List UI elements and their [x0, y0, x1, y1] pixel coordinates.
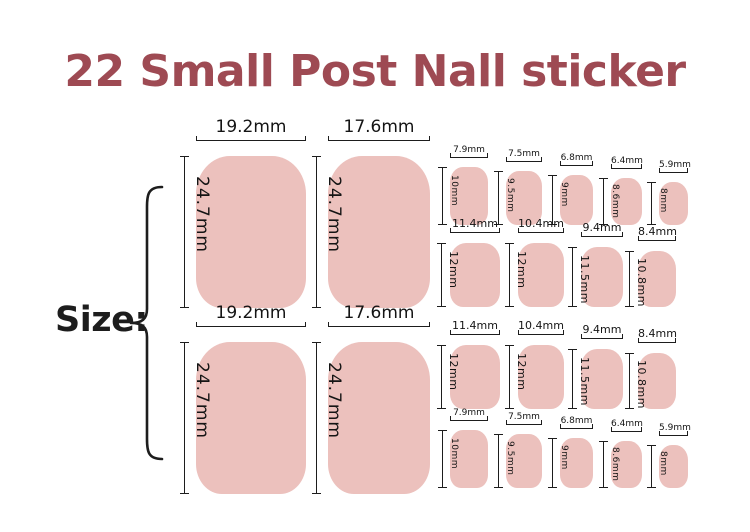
- height-dimension-line: [184, 342, 185, 494]
- height-dimension-line: [498, 434, 499, 488]
- nail-width-label: 19.2mm: [196, 117, 306, 137]
- width-dimension-line: [450, 420, 488, 421]
- height-dimension-line: [552, 438, 553, 488]
- width-dimension-line: [328, 140, 430, 141]
- height-dimension-line: [316, 156, 317, 308]
- width-dimension-line: [659, 435, 688, 436]
- nail-height-label: 24.7mm: [324, 362, 344, 439]
- nail-height-label: 10.8mm: [635, 258, 648, 307]
- height-dimension-line: [441, 345, 442, 409]
- width-dimension-line: [518, 232, 564, 233]
- width-dimension-line: [611, 168, 642, 169]
- height-dimension-line: [651, 445, 652, 488]
- nail-sticker: [196, 156, 306, 308]
- nail-size-chart: 22 Small Post Nall sticker Size: 19.2mm2…: [0, 0, 750, 532]
- nail-width-label: 5.9mm: [659, 423, 688, 433]
- nail-width-label: 17.6mm: [328, 303, 430, 323]
- width-dimension-line: [506, 161, 542, 162]
- nail-width-label: 17.6mm: [328, 117, 430, 137]
- height-dimension-line: [441, 243, 442, 307]
- nail-width-label: 7.5mm: [506, 412, 542, 422]
- nail-height-label: 8mm: [658, 188, 668, 213]
- nail-width-label: 10.4mm: [518, 319, 564, 332]
- height-dimension-line: [442, 430, 443, 488]
- nail-width-label: 6.8mm: [560, 416, 593, 426]
- nail-height-label: 12mm: [515, 353, 528, 390]
- height-dimension-line: [603, 178, 604, 225]
- nail-width-label: 7.5mm: [506, 149, 542, 159]
- nail-width-label: 7.9mm: [450, 408, 488, 418]
- nail-width-label: 6.4mm: [611, 419, 642, 429]
- nail-height-label: 8.6mm: [610, 184, 620, 218]
- nail-width-label: 8.4mm: [638, 327, 676, 340]
- nail-height-label: 24.7mm: [324, 176, 344, 253]
- width-dimension-line: [560, 165, 593, 166]
- nail-width-label: 6.4mm: [611, 156, 642, 166]
- nail-width-label: 7.9mm: [450, 145, 488, 155]
- height-dimension-line: [316, 342, 317, 494]
- height-dimension-line: [651, 182, 652, 225]
- nail-width-label: 10.4mm: [518, 217, 564, 230]
- width-dimension-line: [581, 236, 623, 237]
- nail-width-label: 9.4mm: [581, 323, 623, 336]
- width-dimension-line: [611, 431, 642, 432]
- height-dimension-line: [572, 247, 573, 307]
- height-dimension-line: [509, 345, 510, 409]
- nail-height-label: 8.6mm: [610, 447, 620, 481]
- nail-height-label: 10mm: [449, 438, 459, 469]
- page-title: 22 Small Post Nall sticker: [0, 46, 750, 97]
- nail-width-label: 8.4mm: [638, 225, 676, 238]
- height-dimension-line: [509, 243, 510, 307]
- size-brace-icon: [128, 183, 164, 463]
- nail-height-label: 11.5mm: [578, 357, 591, 406]
- nail-width-label: 11.4mm: [450, 217, 500, 230]
- width-dimension-line: [450, 232, 500, 233]
- height-dimension-line: [629, 353, 630, 409]
- height-dimension-line: [572, 349, 573, 409]
- nail-height-label: 9.5mm: [505, 178, 515, 212]
- nail-height-label: 10mm: [449, 175, 459, 206]
- nail-width-label: 6.8mm: [560, 153, 593, 163]
- height-dimension-line: [629, 251, 630, 307]
- height-dimension-line: [442, 167, 443, 225]
- nail-width-label: 19.2mm: [196, 303, 306, 323]
- nail-width-label: 5.9mm: [659, 160, 688, 170]
- nail-height-label: 9mm: [559, 182, 569, 207]
- nail-width-label: 9.4mm: [581, 221, 623, 234]
- width-dimension-line: [659, 172, 688, 173]
- width-dimension-line: [450, 334, 500, 335]
- height-dimension-line: [184, 156, 185, 308]
- nail-height-label: 12mm: [515, 251, 528, 288]
- width-dimension-line: [450, 157, 488, 158]
- width-dimension-line: [518, 334, 564, 335]
- nail-height-label: 11.5mm: [578, 255, 591, 304]
- width-dimension-line: [328, 326, 430, 327]
- width-dimension-line: [196, 140, 306, 141]
- width-dimension-line: [581, 338, 623, 339]
- nail-width-label: 11.4mm: [450, 319, 500, 332]
- width-dimension-line: [638, 240, 676, 241]
- width-dimension-line: [560, 428, 593, 429]
- width-dimension-line: [506, 424, 542, 425]
- width-dimension-line: [196, 326, 306, 327]
- height-dimension-line: [603, 441, 604, 488]
- nail-height-label: 8mm: [658, 451, 668, 476]
- nail-height-label: 10.8mm: [635, 360, 648, 409]
- nail-sticker: [196, 342, 306, 494]
- nail-height-label: 24.7mm: [192, 176, 212, 253]
- width-dimension-line: [638, 342, 676, 343]
- nail-height-label: 12mm: [447, 251, 460, 288]
- nail-height-label: 24.7mm: [192, 362, 212, 439]
- nail-height-label: 9mm: [559, 445, 569, 470]
- nail-height-label: 12mm: [447, 353, 460, 390]
- nail-height-label: 9.5mm: [505, 441, 515, 475]
